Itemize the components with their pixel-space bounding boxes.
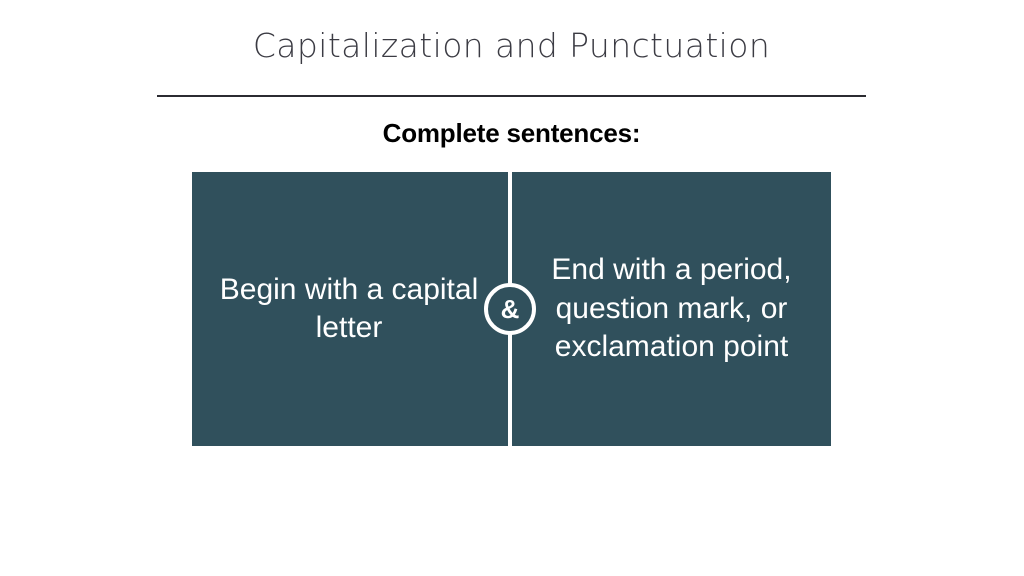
two-panel-diagram: Begin with a capital letter End with a p… <box>192 172 831 446</box>
diagram-panel-end-label: End with a period, question mark, or exc… <box>540 251 803 366</box>
diagram-panel-end: End with a period, question mark, or exc… <box>510 172 831 446</box>
diagram-panel-begin-label: Begin with a capital letter <box>214 271 484 348</box>
page-title: Capitalization and Punctuation <box>157 27 866 65</box>
title-divider-rule <box>157 95 866 97</box>
ampersand-connector-label: & <box>501 296 520 322</box>
ampersand-connector-badge: & <box>484 283 536 335</box>
subtitle-heading: Complete sentences: <box>192 118 831 149</box>
diagram-panel-begin: Begin with a capital letter <box>192 172 510 446</box>
